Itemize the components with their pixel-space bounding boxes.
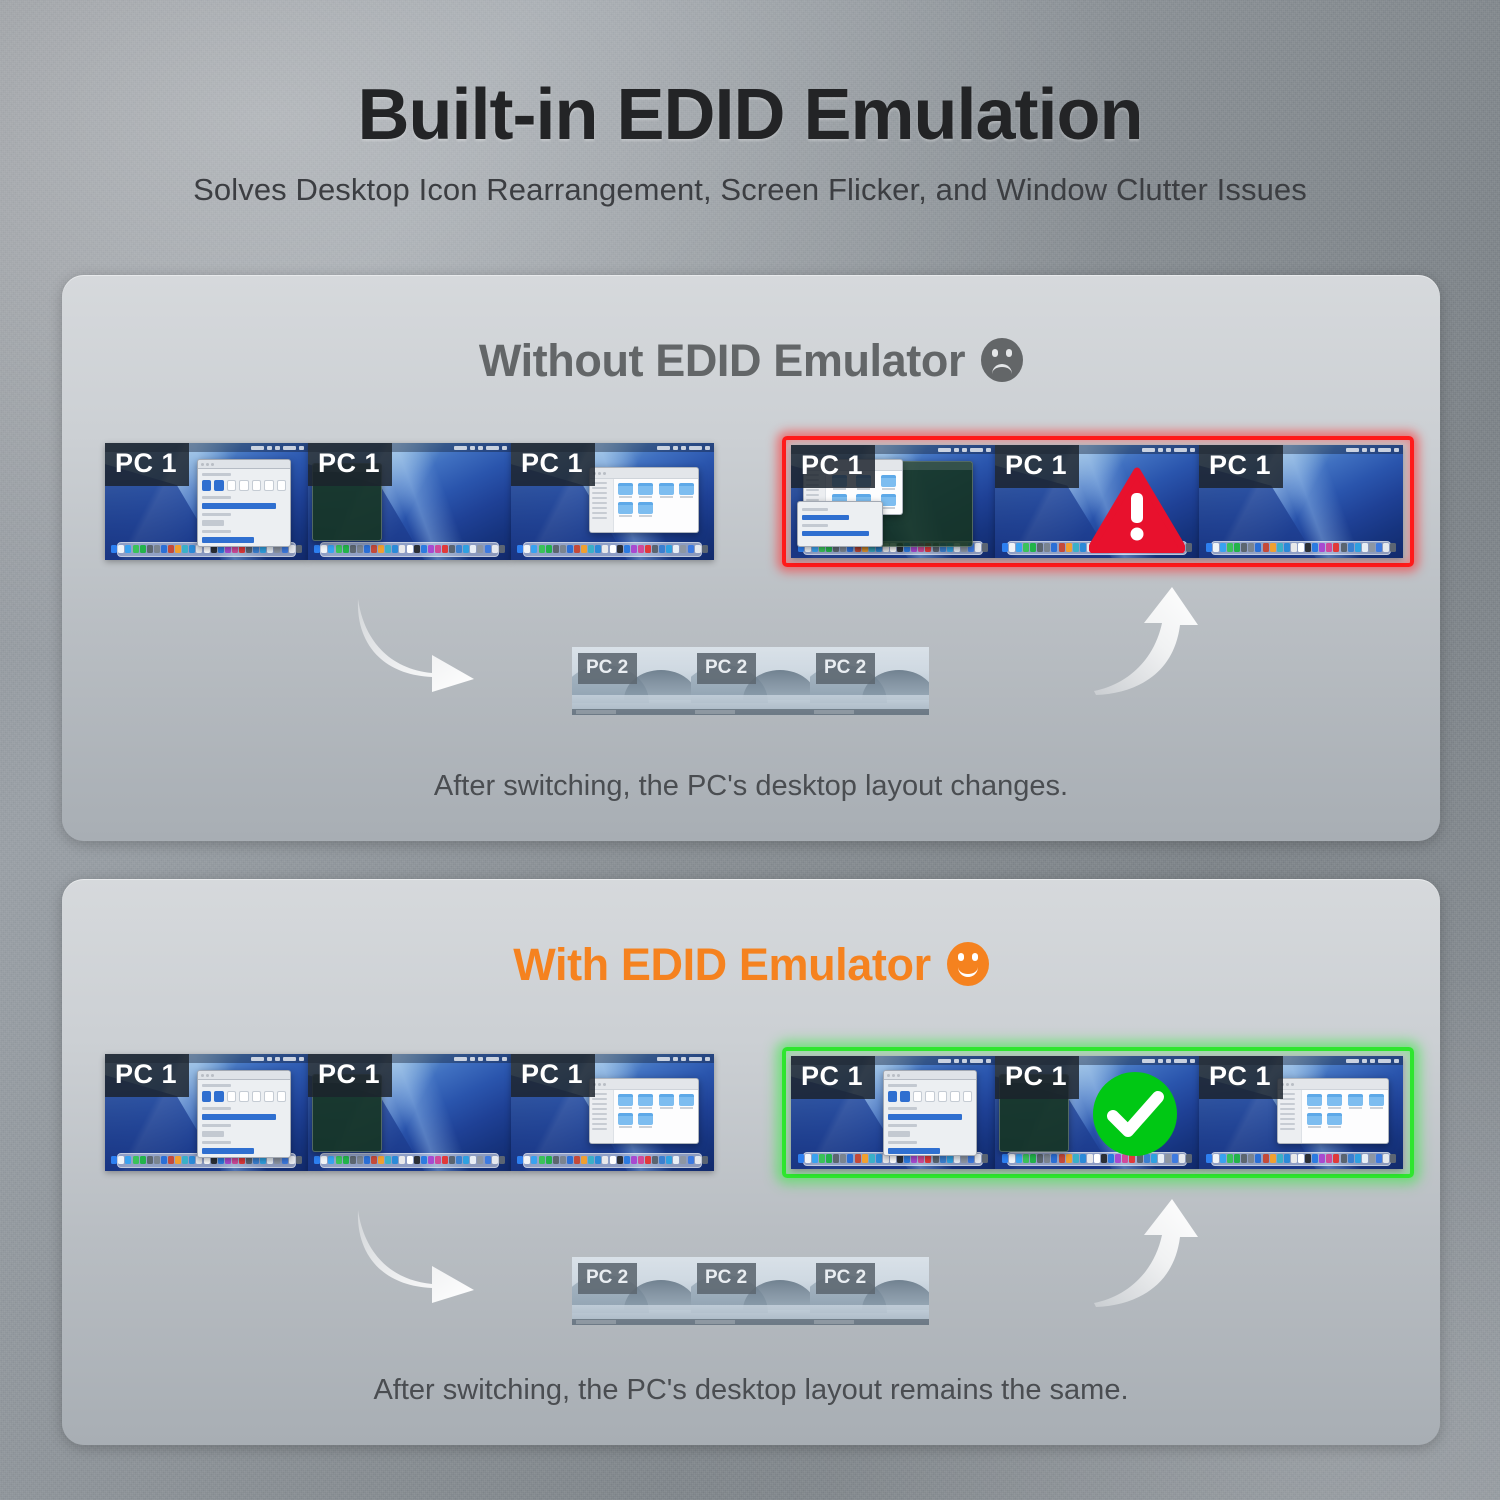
dock-icon[interactable] [546,1156,552,1165]
dock-icon[interactable] [1179,1154,1185,1162]
dock-icon[interactable] [1284,543,1290,551]
dock-icon[interactable] [567,1156,573,1165]
dock-icon[interactable] [539,1156,545,1165]
dock-icon[interactable] [336,1156,342,1165]
dock-icon[interactable] [1376,543,1382,551]
dock-icon[interactable] [798,1154,804,1162]
dock-icon[interactable] [595,545,601,554]
monitor-pc1-b[interactable]: PC 1 [308,1054,511,1171]
with-pc2-monitor-strip: PC 2 PC 2 PC 2 [572,1257,929,1325]
dock-icon[interactable] [378,1156,384,1165]
dock-icon[interactable] [1248,543,1254,551]
dock-icon[interactable] [1030,1154,1036,1162]
warning-triangle-icon [1089,467,1185,553]
dock-icon[interactable] [624,1156,630,1165]
panel-heading-with-text: With EDID Emulator [513,939,930,990]
dock-icon[interactable] [399,545,405,554]
dock-icon[interactable] [1037,1154,1043,1162]
dock-icon[interactable] [659,1156,665,1165]
panel-heading-without: Without EDID Emulator [62,335,1440,387]
dock-icon[interactable] [463,545,469,554]
dock-icon[interactable] [296,545,302,554]
dock-icon[interactable] [680,545,686,554]
dock-icon[interactable] [442,1156,448,1165]
dock-icon[interactable] [673,545,679,554]
dock-icon[interactable] [1270,1154,1276,1162]
monitor-label: PC 1 [1199,445,1283,488]
monitor-label: PC 1 [995,1056,1079,1099]
dock-icon[interactable] [1277,543,1283,551]
dock-icon[interactable] [189,1156,195,1165]
dock-icon[interactable] [539,545,545,554]
dock-icon[interactable] [392,545,398,554]
dock-icon[interactable] [421,1156,427,1165]
finder-window [1277,1078,1389,1144]
monitor-label: PC 1 [791,445,875,488]
dock-icon[interactable] [833,1154,839,1162]
dock-icon[interactable] [688,545,694,554]
dock-icon[interactable] [125,1156,131,1165]
dock-icon[interactable] [161,1156,167,1165]
dock-icon[interactable] [1263,543,1269,551]
dock-icon[interactable] [659,545,665,554]
monitor-label: PC 2 [578,1263,637,1294]
dock-icon[interactable] [617,1156,623,1165]
dock-icon[interactable] [531,545,537,554]
dock-icon[interactable] [1312,543,1318,551]
dock-icon[interactable] [1234,543,1240,551]
dock-icon[interactable] [1066,1154,1072,1162]
dock-icon[interactable] [638,545,644,554]
dock-icon[interactable] [175,545,181,554]
dock-icon[interactable] [1319,543,1325,551]
dock-icon[interactable] [1333,543,1339,551]
dock-icon[interactable] [695,1156,701,1165]
dock-icon[interactable] [1059,1154,1065,1162]
dock-icon[interactable] [477,1156,483,1165]
dock-icon[interactable] [485,1156,491,1165]
dock-icon[interactable] [321,545,327,554]
dock-icon[interactable] [168,545,174,554]
dock-icon[interactable] [982,1154,988,1162]
dock-icon[interactable] [869,1154,875,1162]
dock-icon[interactable] [631,545,637,554]
dock-icon[interactable] [1333,1154,1339,1162]
dock-icon[interactable] [862,1154,868,1162]
dock-icon[interactable] [456,545,462,554]
dock-icon[interactable] [1277,1154,1283,1162]
dock-icon[interactable] [357,545,363,554]
dock-icon[interactable] [1227,1154,1233,1162]
dock-icon[interactable] [876,1154,882,1162]
monitor-pc2-b[interactable]: PC 2 [691,1257,810,1325]
panel-without-edid: Without EDID Emulator PC 1 [62,275,1440,841]
dock-icon[interactable] [154,545,160,554]
dock-icon[interactable] [350,1156,356,1165]
happy-face-icon [947,942,989,986]
dock-icon[interactable] [189,545,195,554]
dock-icon[interactable] [1362,543,1368,551]
dock-icon[interactable] [1044,543,1050,551]
dock-icon[interactable] [492,1156,498,1165]
monitor-label: PC 2 [578,653,637,684]
sad-face-icon [981,338,1023,382]
dock-icon[interactable] [588,545,594,554]
dock-icon[interactable] [567,545,573,554]
dock-icon[interactable] [1362,1154,1368,1162]
dock-icon[interactable] [975,1154,981,1162]
dock-icon[interactable] [638,1156,644,1165]
dock-icon[interactable] [1326,543,1332,551]
dock-icon[interactable] [610,1156,616,1165]
dock-icon[interactable] [336,545,342,554]
dock-icon[interactable] [581,1156,587,1165]
dock-icon[interactable] [1186,1154,1192,1162]
dock-icon[interactable] [314,1156,320,1165]
dock-icon[interactable] [175,1156,181,1165]
monitor-pc2-b[interactable]: PC 2 [691,647,810,715]
dock-icon[interactable] [371,545,377,554]
dock-icon[interactable] [428,545,434,554]
with-source-monitor-strip: PC 1 PC 1 [105,1054,714,1171]
macos-dock [1211,541,1391,555]
dock-icon[interactable] [1073,1154,1079,1162]
dock-icon[interactable] [1376,1154,1382,1162]
dock-icon[interactable] [610,545,616,554]
panel-heading-without-text: Without EDID Emulator [479,335,965,386]
dock-icon[interactable] [1220,1154,1226,1162]
dock-icon[interactable] [624,545,630,554]
curved-arrow-right-icon [350,593,480,693]
monitor-pc2-a[interactable]: PC 2 [572,647,691,715]
monitor-label: PC 1 [1199,1056,1283,1099]
dock-icon[interactable] [631,1156,637,1165]
dock-icon[interactable] [1206,1154,1212,1162]
panel-caption-with: After switching, the PC's desktop layout… [62,1374,1440,1407]
dock-icon[interactable] [617,545,623,554]
monitor-label: PC 1 [105,1054,189,1097]
check-circle-icon [1091,1070,1179,1158]
dock-icon[interactable] [645,1156,651,1165]
dock-icon[interactable] [314,545,320,554]
dock-icon[interactable] [133,545,139,554]
dock-icon[interactable] [1016,1154,1022,1162]
dock-icon[interactable] [588,1156,594,1165]
dock-icon[interactable] [1241,543,1247,551]
dock-icon[interactable] [531,1156,537,1165]
monitor-result-a[interactable]: PC 1 [791,1056,995,1169]
dock-icon[interactable] [154,1156,160,1165]
dock-icon[interactable] [1348,1154,1354,1162]
dock-icon[interactable] [321,1156,327,1165]
dock-icon[interactable] [1298,543,1304,551]
dock-icon[interactable] [414,1156,420,1165]
without-source-monitor-strip: PC 1 PC 1 [105,443,714,560]
dock-icon[interactable] [1186,543,1192,551]
dock-icon[interactable] [517,545,523,554]
dock-icon[interactable] [1030,543,1036,551]
monitor-label: PC 1 [511,1054,595,1097]
panel-with-edid: With EDID Emulator PC 1 [62,879,1440,1445]
monitor-label: PC 1 [791,1056,875,1099]
dock-icon[interactable] [1312,1154,1318,1162]
dock-icon[interactable] [524,1156,530,1165]
monitor-pc2-a[interactable]: PC 2 [572,1257,691,1325]
dock-icon[interactable] [1319,1154,1325,1162]
dock-icon[interactable] [357,1156,363,1165]
monitor-label: PC 2 [816,653,875,684]
dock-icon[interactable] [1051,543,1057,551]
dock-icon[interactable] [819,1154,825,1162]
dock-icon[interactable] [435,545,441,554]
dock-icon[interactable] [702,1156,708,1165]
monitor-pc1-b[interactable]: PC 1 [308,443,511,560]
dock-icon[interactable] [1066,543,1072,551]
dock-icon[interactable] [463,1156,469,1165]
dock-icon[interactable] [378,545,384,554]
monitor-label: PC 1 [308,443,392,486]
dock-icon[interactable] [1284,1154,1290,1162]
dock-icon[interactable] [392,1156,398,1165]
dock-icon[interactable] [449,1156,455,1165]
dock-icon[interactable] [147,1156,153,1165]
dock-icon[interactable] [1291,1154,1297,1162]
monitor-label: PC 1 [308,1054,392,1097]
dock-icon[interactable] [449,545,455,554]
dock-icon[interactable] [350,545,356,554]
dock-icon[interactable] [1044,1154,1050,1162]
dock-icon[interactable] [435,1156,441,1165]
without-pc2-monitor-strip: PC 2 PC 2 PC 2 [572,647,929,715]
dock-icon[interactable] [161,545,167,554]
dock-icon[interactable] [553,1156,559,1165]
dock-icon[interactable] [581,545,587,554]
dock-icon[interactable] [1220,543,1226,551]
panel-caption-without: After switching, the PC's desktop layout… [62,770,1440,803]
dock-icon[interactable] [371,1156,377,1165]
dock-icon[interactable] [1234,1154,1240,1162]
monitor-label: PC 1 [105,443,189,486]
monitor-label: PC 1 [511,443,595,486]
dock-icon[interactable] [1206,543,1212,551]
dock-icon[interactable] [125,545,131,554]
dock-icon[interactable] [414,545,420,554]
dock-icon[interactable] [688,1156,694,1165]
dock-icon[interactable] [975,543,981,551]
dock-icon[interactable] [666,545,672,554]
monitor-pc1-a[interactable]: PC 1 [105,1054,308,1171]
dock-icon[interactable] [602,545,608,554]
dock-icon[interactable] [364,545,370,554]
settings-window [197,1070,291,1158]
dock-icon[interactable] [1037,543,1043,551]
dock-icon[interactable] [1270,543,1276,551]
dock-icon[interactable] [1080,1154,1086,1162]
dock-icon[interactable] [492,545,498,554]
monitor-pc2-c[interactable]: PC 2 [810,647,929,715]
dock-icon[interactable] [343,1156,349,1165]
dock-icon[interactable] [1341,1154,1347,1162]
dock-icon[interactable] [328,545,334,554]
dock-icon[interactable] [399,1156,405,1165]
dock-icon[interactable] [595,1156,601,1165]
dock-icon[interactable] [1227,543,1233,551]
dock-icon[interactable] [343,545,349,554]
dock-icon[interactable] [470,1156,476,1165]
dock-icon[interactable] [111,1156,117,1165]
monitor-pc1-a[interactable]: PC 1 [105,443,308,560]
dock-icon[interactable] [499,1156,505,1165]
dock-icon[interactable] [1241,1154,1247,1162]
dock-icon[interactable] [666,1156,672,1165]
dock-icon[interactable] [1291,543,1297,551]
dock-icon[interactable] [1023,543,1029,551]
dock-icon[interactable] [553,545,559,554]
dock-icon[interactable] [1248,1154,1254,1162]
dock-icon[interactable] [1059,543,1065,551]
monitor-label: PC 1 [995,445,1079,488]
dock-icon[interactable] [140,545,146,554]
monitor-result-c[interactable]: PC 1 [1199,445,1403,558]
dock-icon[interactable] [560,545,566,554]
dock-icon[interactable] [1383,1154,1389,1162]
dock-icon[interactable] [1255,1154,1261,1162]
dock-icon[interactable] [695,545,701,554]
dock-icon[interactable] [477,545,483,554]
dock-icon[interactable] [385,1156,391,1165]
settings-window [797,501,883,547]
page-header: Built-in EDID Emulation Solves Desktop I… [0,0,1500,208]
macos-dock [320,542,499,557]
dock-icon[interactable] [1390,1154,1396,1162]
dock-icon[interactable] [168,1156,174,1165]
monitor-pc1-c[interactable]: PC 1 [511,1054,714,1171]
dock-icon[interactable] [385,545,391,554]
dock-icon[interactable] [140,1156,146,1165]
dock-icon[interactable] [805,1154,811,1162]
dock-icon[interactable] [680,1156,686,1165]
dock-icon[interactable] [118,545,124,554]
dock-icon[interactable] [1383,543,1389,551]
monitor-pc2-c[interactable]: PC 2 [810,1257,929,1325]
dock-icon[interactable] [485,545,491,554]
dock-icon[interactable] [847,1154,853,1162]
monitor-label: PC 2 [697,653,756,684]
finder-window [589,467,699,533]
dock-icon[interactable] [1023,1154,1029,1162]
dock-icon[interactable] [673,1156,679,1165]
curved-arrow-up-icon [1092,1197,1212,1307]
curved-arrow-right-icon [350,1204,480,1304]
dock-icon[interactable] [1326,1154,1332,1162]
dock-icon[interactable] [407,545,413,554]
dock-icon[interactable] [111,545,117,554]
page-title: Built-in EDID Emulation [0,74,1500,156]
dock-icon[interactable] [470,545,476,554]
dock-icon[interactable] [652,545,658,554]
dock-icon[interactable] [826,1154,832,1162]
dock-icon[interactable] [1390,543,1396,551]
dock-icon[interactable] [1369,1154,1375,1162]
dock-icon[interactable] [364,1156,370,1165]
dock-icon[interactable] [1213,543,1219,551]
dock-icon[interactable] [1298,1154,1304,1162]
dock-icon[interactable] [407,1156,413,1165]
monitor-result-a[interactable]: PC 1 [791,445,995,558]
dock-icon[interactable] [1051,1154,1057,1162]
macos-dock [523,1153,702,1168]
curved-arrow-up-icon [1092,585,1212,695]
dock-icon[interactable] [517,1156,523,1165]
dock-icon[interactable] [840,1154,846,1162]
dock-icon[interactable] [1002,1154,1008,1162]
dock-icon[interactable] [328,1156,334,1165]
dock-icon[interactable] [296,1156,302,1165]
dock-icon[interactable] [1002,543,1008,551]
dock-icon[interactable] [456,1156,462,1165]
dock-icon[interactable] [499,545,505,554]
dock-icon[interactable] [1073,543,1079,551]
dock-icon[interactable] [1009,1154,1015,1162]
dock-icon[interactable] [428,1156,434,1165]
macos-dock [523,542,702,557]
monitor-label: PC 2 [816,1263,875,1294]
dock-icon[interactable] [118,1156,124,1165]
macos-dock [1211,1152,1391,1166]
dock-icon[interactable] [1305,543,1311,551]
settings-window [197,459,291,547]
dock-icon[interactable] [560,1156,566,1165]
dock-icon[interactable] [442,545,448,554]
dock-icon[interactable] [182,545,188,554]
dock-icon[interactable] [702,545,708,554]
dock-icon[interactable] [1355,1154,1361,1162]
dock-icon[interactable] [982,543,988,551]
dock-icon[interactable] [855,1154,861,1162]
dock-icon[interactable] [1009,543,1015,551]
dock-icon[interactable] [645,545,651,554]
dock-icon[interactable] [1341,543,1347,551]
macos-dock [320,1153,499,1168]
dock-icon[interactable] [1369,543,1375,551]
monitor-result-c[interactable]: PC 1 [1199,1056,1403,1169]
page-subtitle: Solves Desktop Icon Rearrangement, Scree… [0,172,1500,208]
monitor-label: PC 2 [697,1263,756,1294]
dock-icon[interactable] [574,1156,580,1165]
dock-icon[interactable] [1255,543,1261,551]
panel-heading-with: With EDID Emulator [62,939,1440,991]
dock-icon[interactable] [1355,543,1361,551]
monitor-pc1-c[interactable]: PC 1 [511,443,714,560]
dock-icon[interactable] [602,1156,608,1165]
dock-icon[interactable] [1305,1154,1311,1162]
dock-icon[interactable] [133,1156,139,1165]
dock-icon[interactable] [147,545,153,554]
dock-icon[interactable] [1348,543,1354,551]
dock-icon[interactable] [652,1156,658,1165]
dock-icon[interactable] [546,545,552,554]
dock-icon[interactable] [1080,543,1086,551]
dock-icon[interactable] [812,1154,818,1162]
dock-icon[interactable] [182,1156,188,1165]
dock-icon[interactable] [1016,543,1022,551]
dock-icon[interactable] [574,545,580,554]
dock-icon[interactable] [1263,1154,1269,1162]
dock-icon[interactable] [1213,1154,1219,1162]
dock-icon[interactable] [524,545,530,554]
dock-icon[interactable] [421,545,427,554]
finder-window [589,1078,699,1144]
